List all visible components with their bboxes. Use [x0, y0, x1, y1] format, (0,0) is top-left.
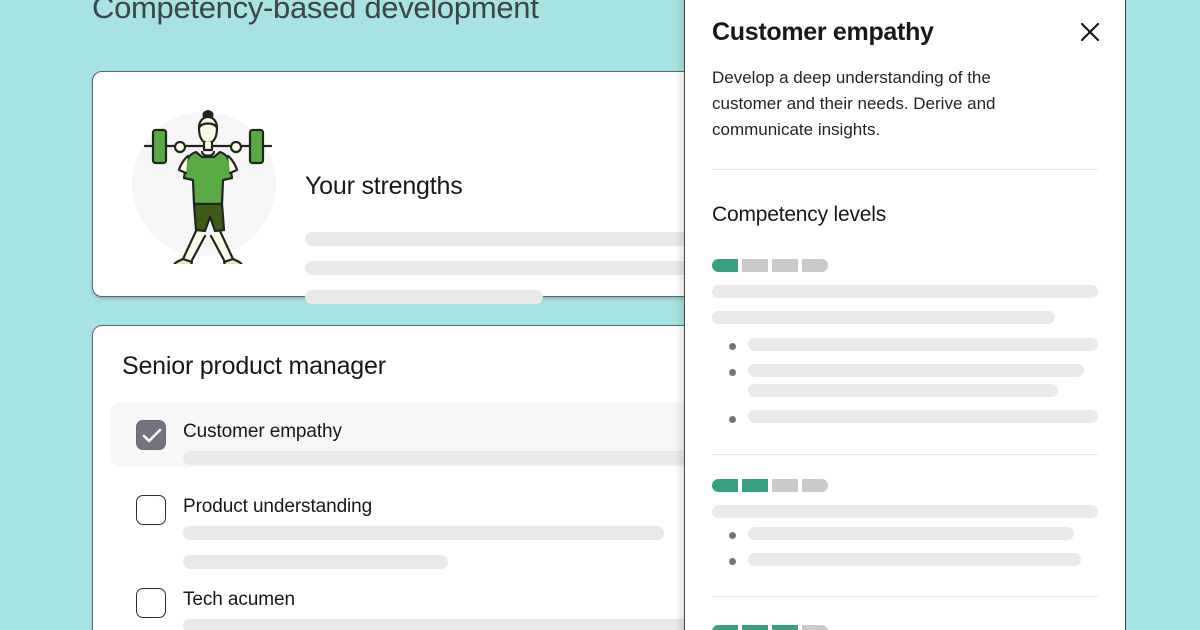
page-title: Competency-based development — [92, 0, 539, 26]
level-indicator-2 — [712, 479, 828, 492]
level-pip — [742, 479, 768, 492]
placeholder-line — [712, 505, 1098, 518]
placeholder-line — [748, 364, 1084, 377]
checkbox-tech-acumen[interactable] — [136, 588, 166, 618]
competency-label: Tech acumen — [183, 589, 295, 611]
competency-detail-drawer: Customer empathy Develop a deep understa… — [684, 0, 1126, 630]
placeholder-line — [748, 410, 1098, 423]
placeholder-line — [748, 527, 1074, 540]
level-pip — [772, 479, 798, 492]
bullet-dot — [729, 558, 736, 565]
bullet-dot — [729, 532, 736, 539]
level-pip — [712, 259, 738, 272]
level-pip — [802, 479, 828, 492]
placeholder-line — [748, 338, 1098, 351]
level-pip — [742, 259, 768, 272]
close-icon[interactable] — [1073, 15, 1107, 49]
level-indicator-1 — [712, 259, 828, 272]
placeholder-line — [748, 384, 1058, 397]
level-pip — [742, 625, 768, 630]
competency-label: Customer empathy — [183, 421, 342, 443]
divider — [712, 596, 1098, 597]
level-indicator-3 — [712, 625, 828, 630]
level-pip — [772, 625, 798, 630]
placeholder-line — [183, 619, 693, 630]
placeholder-line — [183, 555, 448, 569]
placeholder-line — [305, 290, 543, 304]
strengths-heading: Your strengths — [305, 172, 463, 201]
level-pip — [712, 625, 738, 630]
role-title: Senior product manager — [122, 352, 386, 381]
placeholder-line — [748, 553, 1081, 566]
bullet-dot — [729, 369, 736, 376]
level-pip — [772, 259, 798, 272]
placeholder-line — [712, 311, 1055, 324]
bullet-dot — [729, 343, 736, 350]
competency-levels-heading: Competency levels — [712, 203, 886, 227]
divider — [712, 454, 1098, 455]
drawer-description: Develop a deep understanding of the cust… — [712, 65, 1052, 143]
divider — [712, 169, 1098, 170]
screenshot-stage: Competency-based development — [0, 0, 1200, 630]
drawer-title: Customer empathy — [712, 18, 934, 47]
level-pip — [802, 625, 828, 630]
check-icon — [142, 427, 162, 445]
placeholder-line — [712, 285, 1098, 298]
level-pip — [712, 479, 738, 492]
weightlifter-illustration — [128, 104, 288, 264]
checkbox-customer-empathy[interactable] — [136, 420, 166, 450]
competency-label: Product understanding — [183, 496, 372, 518]
bullet-dot — [729, 416, 736, 423]
level-pip — [802, 259, 828, 272]
checkbox-product-understanding[interactable] — [136, 495, 166, 525]
placeholder-line — [183, 526, 664, 540]
